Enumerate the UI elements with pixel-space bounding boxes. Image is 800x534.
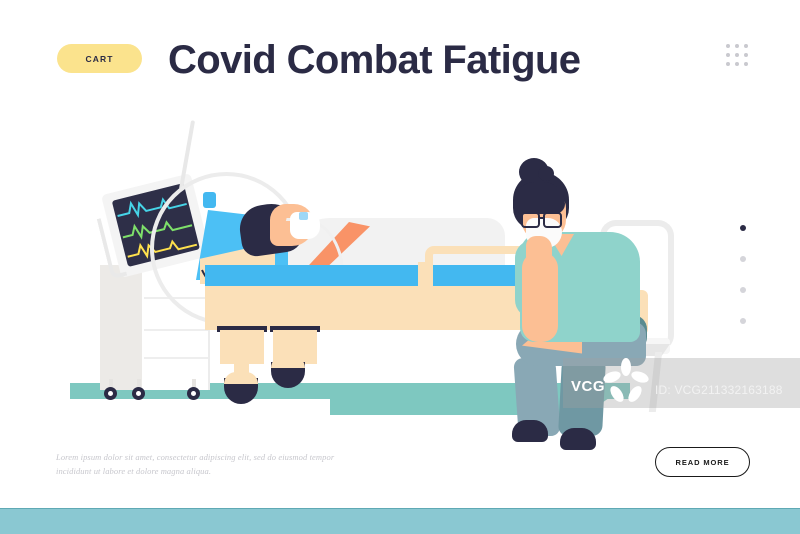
read-more-label: READ MORE [676, 458, 730, 467]
grid-dots-icon[interactable] [726, 44, 753, 71]
eyeglasses-bridge [538, 217, 544, 219]
grid-dot [744, 62, 748, 66]
bed-rail-post [418, 262, 426, 288]
page-title: Covid Combat Fatigue [168, 35, 580, 85]
eyeglasses-icon [543, 212, 562, 228]
nurse-shoe [512, 420, 548, 442]
cabinet-caster [187, 387, 200, 400]
landing-page: CART Covid Combat Fatigue [0, 0, 800, 533]
bottom-bar [0, 508, 800, 534]
bed-leg [220, 330, 264, 364]
cabinet-drawer-line [144, 329, 208, 331]
grid-dot [726, 53, 730, 57]
cart-badge-label: CART [85, 54, 113, 64]
grid-dot [744, 53, 748, 57]
grid-dot [744, 44, 748, 48]
oxygen-mask-clip [299, 212, 308, 220]
pole-clip [203, 192, 216, 208]
read-more-button[interactable]: READ MORE [655, 447, 750, 477]
nurse-shoe [560, 428, 596, 450]
eyeglasses-icon [521, 212, 540, 228]
cabinet-side [100, 265, 142, 390]
nurse-hair-front [513, 182, 565, 214]
lorem-paragraph: Lorem ipsum dolor sit amet, consectetur … [56, 451, 346, 478]
nurse-leg-front [558, 358, 606, 436]
cabinet-caster [132, 387, 145, 400]
cart-badge[interactable]: CART [57, 44, 142, 73]
grid-dot [735, 62, 739, 66]
nurse-hair-bun-small [538, 166, 554, 181]
grid-dot [735, 44, 739, 48]
nurse-hand-on-chin [526, 236, 552, 266]
cabinet-drawer-line [144, 357, 208, 359]
hero-illustration [0, 100, 800, 430]
chair-leg [649, 352, 662, 412]
cabinet-caster [104, 387, 117, 400]
grid-dot [726, 44, 730, 48]
grid-dot [735, 53, 739, 57]
bed-caster [224, 378, 258, 404]
page-header: CART Covid Combat Fatigue [0, 0, 800, 110]
grid-dot [726, 62, 730, 66]
